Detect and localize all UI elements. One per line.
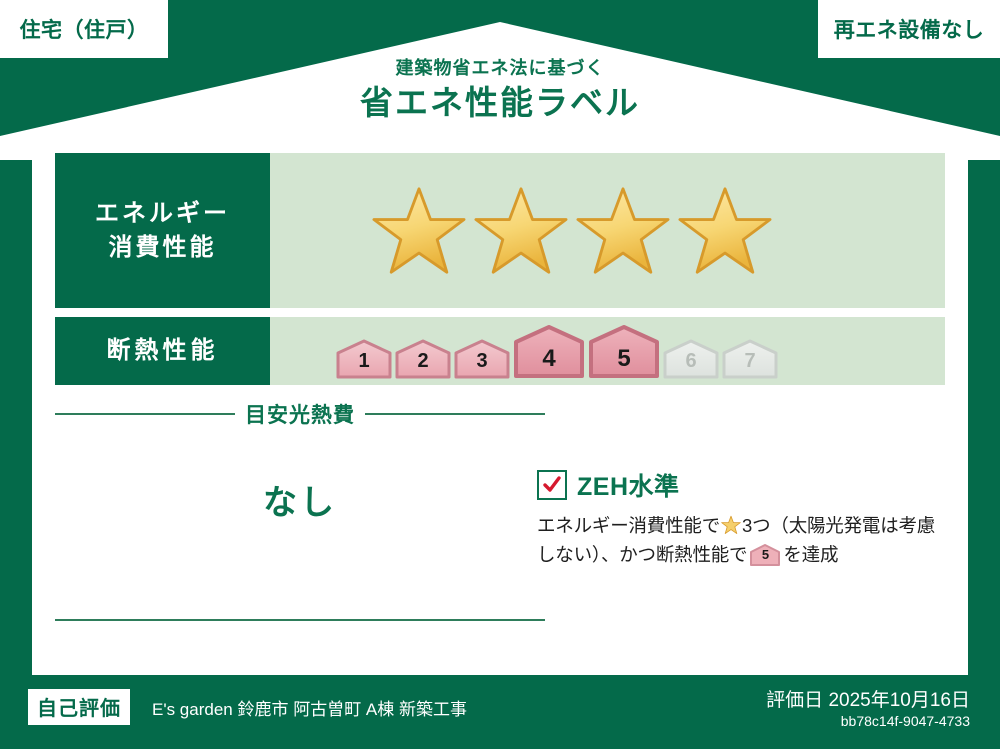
star-icon xyxy=(677,185,773,277)
zeh-block: ZEH水準 エネルギー消費性能で3つ（太陽光発電は考慮しない）、かつ断熱性能で5… xyxy=(537,467,947,569)
utility-cost-value: なし xyxy=(55,475,545,524)
heading-rule-left xyxy=(55,413,235,415)
insulation-key-line1: 断熱性能 xyxy=(107,334,219,367)
property-name: E's garden 鈴鹿市 阿古曽町 A棟 新築工事 xyxy=(152,695,467,720)
self-evaluation-badge: 自己評価 xyxy=(28,689,130,725)
insulation-level-6: 6 xyxy=(663,339,719,379)
zeh-checkbox[interactable] xyxy=(537,470,567,500)
star-icon xyxy=(721,515,741,535)
insulation-level-6-label: 6 xyxy=(663,350,719,373)
insulation-level-2-label: 2 xyxy=(395,350,451,373)
insulation-level-3: 3 xyxy=(454,339,510,379)
star-rating xyxy=(371,185,773,277)
insulation-level-1: 1 xyxy=(336,339,392,379)
check-icon xyxy=(542,475,562,495)
insulation-level-1-label: 1 xyxy=(336,350,392,373)
title-subtitle: 建築物省エネ法に基づく xyxy=(0,58,1000,80)
zeh-desc-part1: エネルギー消費性能で xyxy=(537,515,720,536)
zeh-title: ZEH水準 xyxy=(577,467,680,503)
zeh-description: エネルギー消費性能で3つ（太陽光発電は考慮しない）、かつ断熱性能で5を達成 xyxy=(537,512,947,569)
tab-renewable-energy: 再エネ設備なし xyxy=(818,0,1000,58)
insulation-badge-value: 5 xyxy=(750,545,780,565)
page-title: 建築物省エネ法に基づく 省エネ性能ラベル xyxy=(0,58,1000,123)
insulation-level-3-label: 3 xyxy=(454,350,510,373)
star-icon xyxy=(473,185,569,277)
insulation-scale: 1 2 3 xyxy=(336,324,778,385)
energy-performance-value xyxy=(270,153,945,308)
insulation-level-2: 2 xyxy=(395,339,451,379)
footer: 自己評価 E's garden 鈴鹿市 阿古曽町 A棟 新築工事 評価日 202… xyxy=(0,675,1000,749)
star-icon xyxy=(575,185,671,277)
insulation-level-5: 5 xyxy=(588,324,660,379)
insulation-level-7-label: 7 xyxy=(722,350,778,373)
insulation-badge: 5 xyxy=(750,544,780,566)
insulation-performance-value: 1 2 3 xyxy=(270,317,945,385)
insulation-performance-key: 断熱性能 xyxy=(55,317,270,385)
tab-building-type-label: 住宅（住戸） xyxy=(20,14,149,44)
insulation-level-4-label: 4 xyxy=(513,345,585,373)
energy-performance-label: 住宅（住戸） 再エネ設備なし 建築物省エネ法に基づく 省エネ性能ラベル エネルギ… xyxy=(0,0,1000,749)
zeh-heading: ZEH水準 xyxy=(537,467,947,503)
insulation-performance-row: 断熱性能 1 xyxy=(55,317,945,385)
heading-rule-right xyxy=(365,413,545,415)
title-main: 省エネ性能ラベル xyxy=(0,82,1000,123)
label-body: エネルギー 消費性能 xyxy=(32,145,968,675)
energy-performance-row: エネルギー 消費性能 xyxy=(55,153,945,308)
energy-key-line2: 消費性能 xyxy=(109,231,217,264)
star-icon xyxy=(371,185,467,277)
evaluation-date: 評価日 2025年10月16日 xyxy=(766,685,970,712)
energy-key-line1: エネルギー xyxy=(95,197,230,230)
energy-performance-key: エネルギー 消費性能 xyxy=(55,153,270,308)
insulation-level-7: 7 xyxy=(722,339,778,379)
evaluation-id: bb78c14f-9047-4733 xyxy=(841,713,970,729)
insulation-level-4: 4 xyxy=(513,324,585,379)
utility-cost-heading: 目安光熱費 xyxy=(55,403,545,425)
insulation-level-5-label: 5 xyxy=(588,345,660,373)
tab-renewable-energy-label: 再エネ設備なし xyxy=(834,14,985,44)
zeh-desc-part3: を達成 xyxy=(783,544,838,565)
tab-building-type: 住宅（住戸） xyxy=(0,0,168,58)
utility-cost-divider xyxy=(55,619,545,621)
utility-cost-heading-label: 目安光熱費 xyxy=(245,399,355,429)
